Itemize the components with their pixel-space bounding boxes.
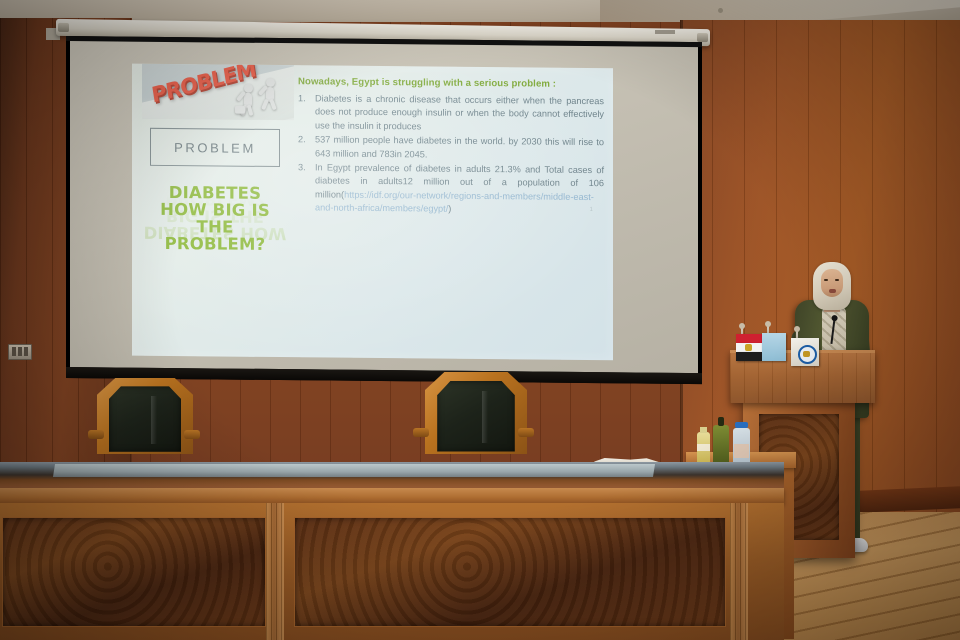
table-top — [0, 462, 784, 490]
slide-bullet-1: Diabetes is a chronic disease that occur… — [298, 92, 604, 135]
presenter-face — [821, 269, 843, 297]
slide-bullet-3-link[interactable]: https://idf.org/our-network/regions-and-… — [315, 190, 594, 214]
big-question-line-3: THE — [140, 218, 290, 236]
table-pilaster — [266, 503, 284, 640]
table-glass-surface — [53, 464, 655, 477]
institution-emblem-icon — [798, 345, 817, 364]
chair-backrest — [109, 386, 182, 451]
slide-left-column: PROBLEM P — [132, 64, 294, 358]
ceiling-fixture — [718, 8, 723, 13]
big-question-line-4: PROBLEM? — [140, 235, 290, 253]
water-bottle[interactable] — [697, 432, 710, 466]
slide-page-number: 1 — [590, 207, 593, 213]
chair-arm — [413, 428, 429, 437]
chair-arm — [518, 428, 534, 437]
table-pilaster — [730, 503, 748, 640]
slide-bullet-2: 537 million people have diabetes in the … — [298, 133, 604, 163]
conference-room-photo: PROBLEM P — [0, 0, 960, 640]
dark-bottle[interactable] — [713, 425, 729, 466]
projected-slide: PROBLEM P — [132, 64, 613, 361]
conference-chair-right[interactable] — [425, 372, 527, 454]
table-burl-panel — [294, 517, 726, 627]
table-front — [0, 503, 784, 640]
chair-arm — [184, 430, 200, 439]
problem-label-box: PROBLEM — [150, 128, 280, 167]
figure-head — [244, 84, 253, 93]
presenter-head — [813, 262, 851, 308]
egypt-eagle-emblem — [745, 344, 752, 351]
eye — [835, 279, 839, 281]
light-blue-flag — [762, 333, 786, 361]
institution-flag — [791, 338, 819, 366]
problem-graphic: PROBLEM — [142, 64, 294, 120]
roller-brand-label — [655, 30, 675, 34]
slide-bullet-3-tail: ) — [448, 204, 451, 214]
screen-surface: PROBLEM P — [70, 41, 698, 373]
slide-right-column: Nowadays, Egypt is struggling with a ser… — [298, 75, 604, 219]
figure-head — [266, 78, 275, 87]
figure-box — [235, 106, 245, 114]
chair-arm — [88, 430, 104, 439]
egypt-flag — [736, 334, 762, 343]
conference-chair-left[interactable] — [97, 378, 193, 454]
egypt-flag-black-band — [736, 352, 762, 361]
slide-heading: Nowadays, Egypt is struggling with a ser… — [298, 75, 604, 92]
big-question-line-2: HOW BIG IS — [140, 201, 290, 219]
slide-bullet-list: Diabetes is a chronic disease that occur… — [298, 92, 604, 218]
table-edge — [0, 488, 784, 504]
egypt-flag-white-band — [736, 343, 762, 352]
big-question-heading: DIABETES HOW BIG IS THE PROBLEM? — [140, 184, 290, 253]
labeled-bottle[interactable] — [733, 428, 750, 466]
slide-bullet-3: In Egypt prevalence of diabetes in adult… — [298, 161, 604, 218]
bottle-cap — [735, 422, 748, 428]
problem-label-text: PROBLEM — [174, 140, 256, 156]
head-table — [0, 462, 784, 640]
mouth — [829, 289, 836, 293]
chair-backrest — [437, 381, 515, 452]
table-burl-panel — [2, 517, 266, 627]
eye — [824, 279, 828, 281]
light-switch-icon[interactable] — [8, 344, 32, 360]
projection-screen: PROBLEM P — [66, 36, 702, 384]
